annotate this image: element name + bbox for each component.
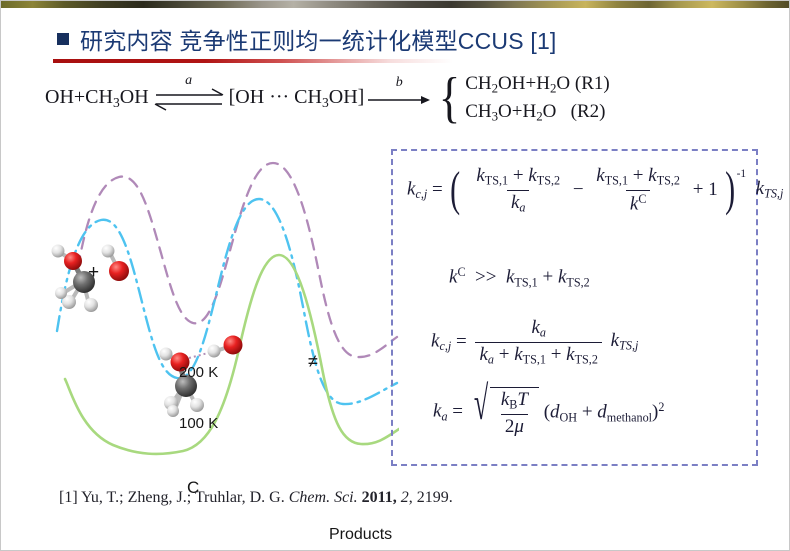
citation-volume: 2 — [401, 489, 409, 506]
citation-authors: Yu, T.; Zheng, J.; Truhlar, D. G. — [81, 489, 285, 506]
forward-arrow-label: b — [396, 75, 403, 91]
products-brace-group: { CH2OH+H2O (R1) CH3O+H2O (R2) — [436, 73, 609, 124]
slide-title-row: 研究内容 竞争性正则均一统计化模型CCUS [1] — [57, 22, 557, 56]
product-line-r1: CH2OH+H2O (R1) — [465, 73, 610, 97]
product-line-r2: CH3O+H2O (R2) — [465, 101, 610, 125]
plus-sign-icon: + — [88, 262, 99, 283]
title-underline-rule — [53, 59, 743, 63]
curve-200k — [75, 163, 397, 357]
radical-sign-icon: √ — [474, 387, 488, 438]
equilibrium-arrow-label: a — [185, 73, 192, 89]
decorative-photo-strip — [1, 1, 790, 8]
reaction-scheme: OH+CH3OH a [OH ··· CH3OH] b { CH2OH+H2O … — [45, 73, 610, 124]
citation-pages: , 2199. — [409, 489, 453, 506]
scheme-reactants: OH+CH3OH — [45, 86, 149, 111]
label-transition-state: ≠ — [308, 351, 318, 372]
slide-canvas: 研究内容 竞争性正则均一统计化模型CCUS [1] OH+CH3OH a [OH… — [0, 0, 790, 551]
square-bullet-icon — [57, 33, 69, 45]
equation-kcj-simplified: kc,j = ka ka + kTS,1 + kTS,2 kTS,j — [431, 317, 638, 367]
label-100k: 100 K — [179, 415, 218, 432]
equation-kcj-full: kc,j = ( kTS,1 + kTS,2 ka − kTS,1 + kTS,… — [407, 165, 783, 215]
curve-100k — [57, 199, 397, 404]
equation-ka-collision: ka = √ kBT 2μ (dOH + dmethanol)2 — [433, 387, 664, 438]
hydroxyl-model — [102, 245, 130, 282]
citation-year: 2011, — [362, 489, 397, 506]
equilibrium-arrow-icon: a — [152, 86, 226, 112]
citation-ref-number: [1] — [59, 489, 78, 506]
page-title: 研究内容 竞争性正则均一统计化模型CCUS [1] — [80, 22, 557, 56]
citation-journal: Chem. Sci. — [289, 489, 358, 506]
forward-arrow-icon: b — [366, 89, 432, 109]
energy-profile-diagram: + — [27, 141, 399, 461]
scheme-complex: [OH ··· CH3OH] — [229, 86, 365, 111]
equation-kc-much-greater: kC >> kTS,1 + kTS,2 — [449, 265, 590, 290]
equations-panel: kc,j = ( kTS,1 + kTS,2 ka − kTS,1 + kTS,… — [391, 149, 758, 466]
left-brace-icon: { — [439, 76, 461, 122]
citation-reference: [1] Yu, T.; Zheng, J.; Truhlar, D. G. Ch… — [59, 489, 453, 507]
label-200k: 200 K — [179, 364, 218, 381]
label-products: Products — [329, 526, 392, 544]
